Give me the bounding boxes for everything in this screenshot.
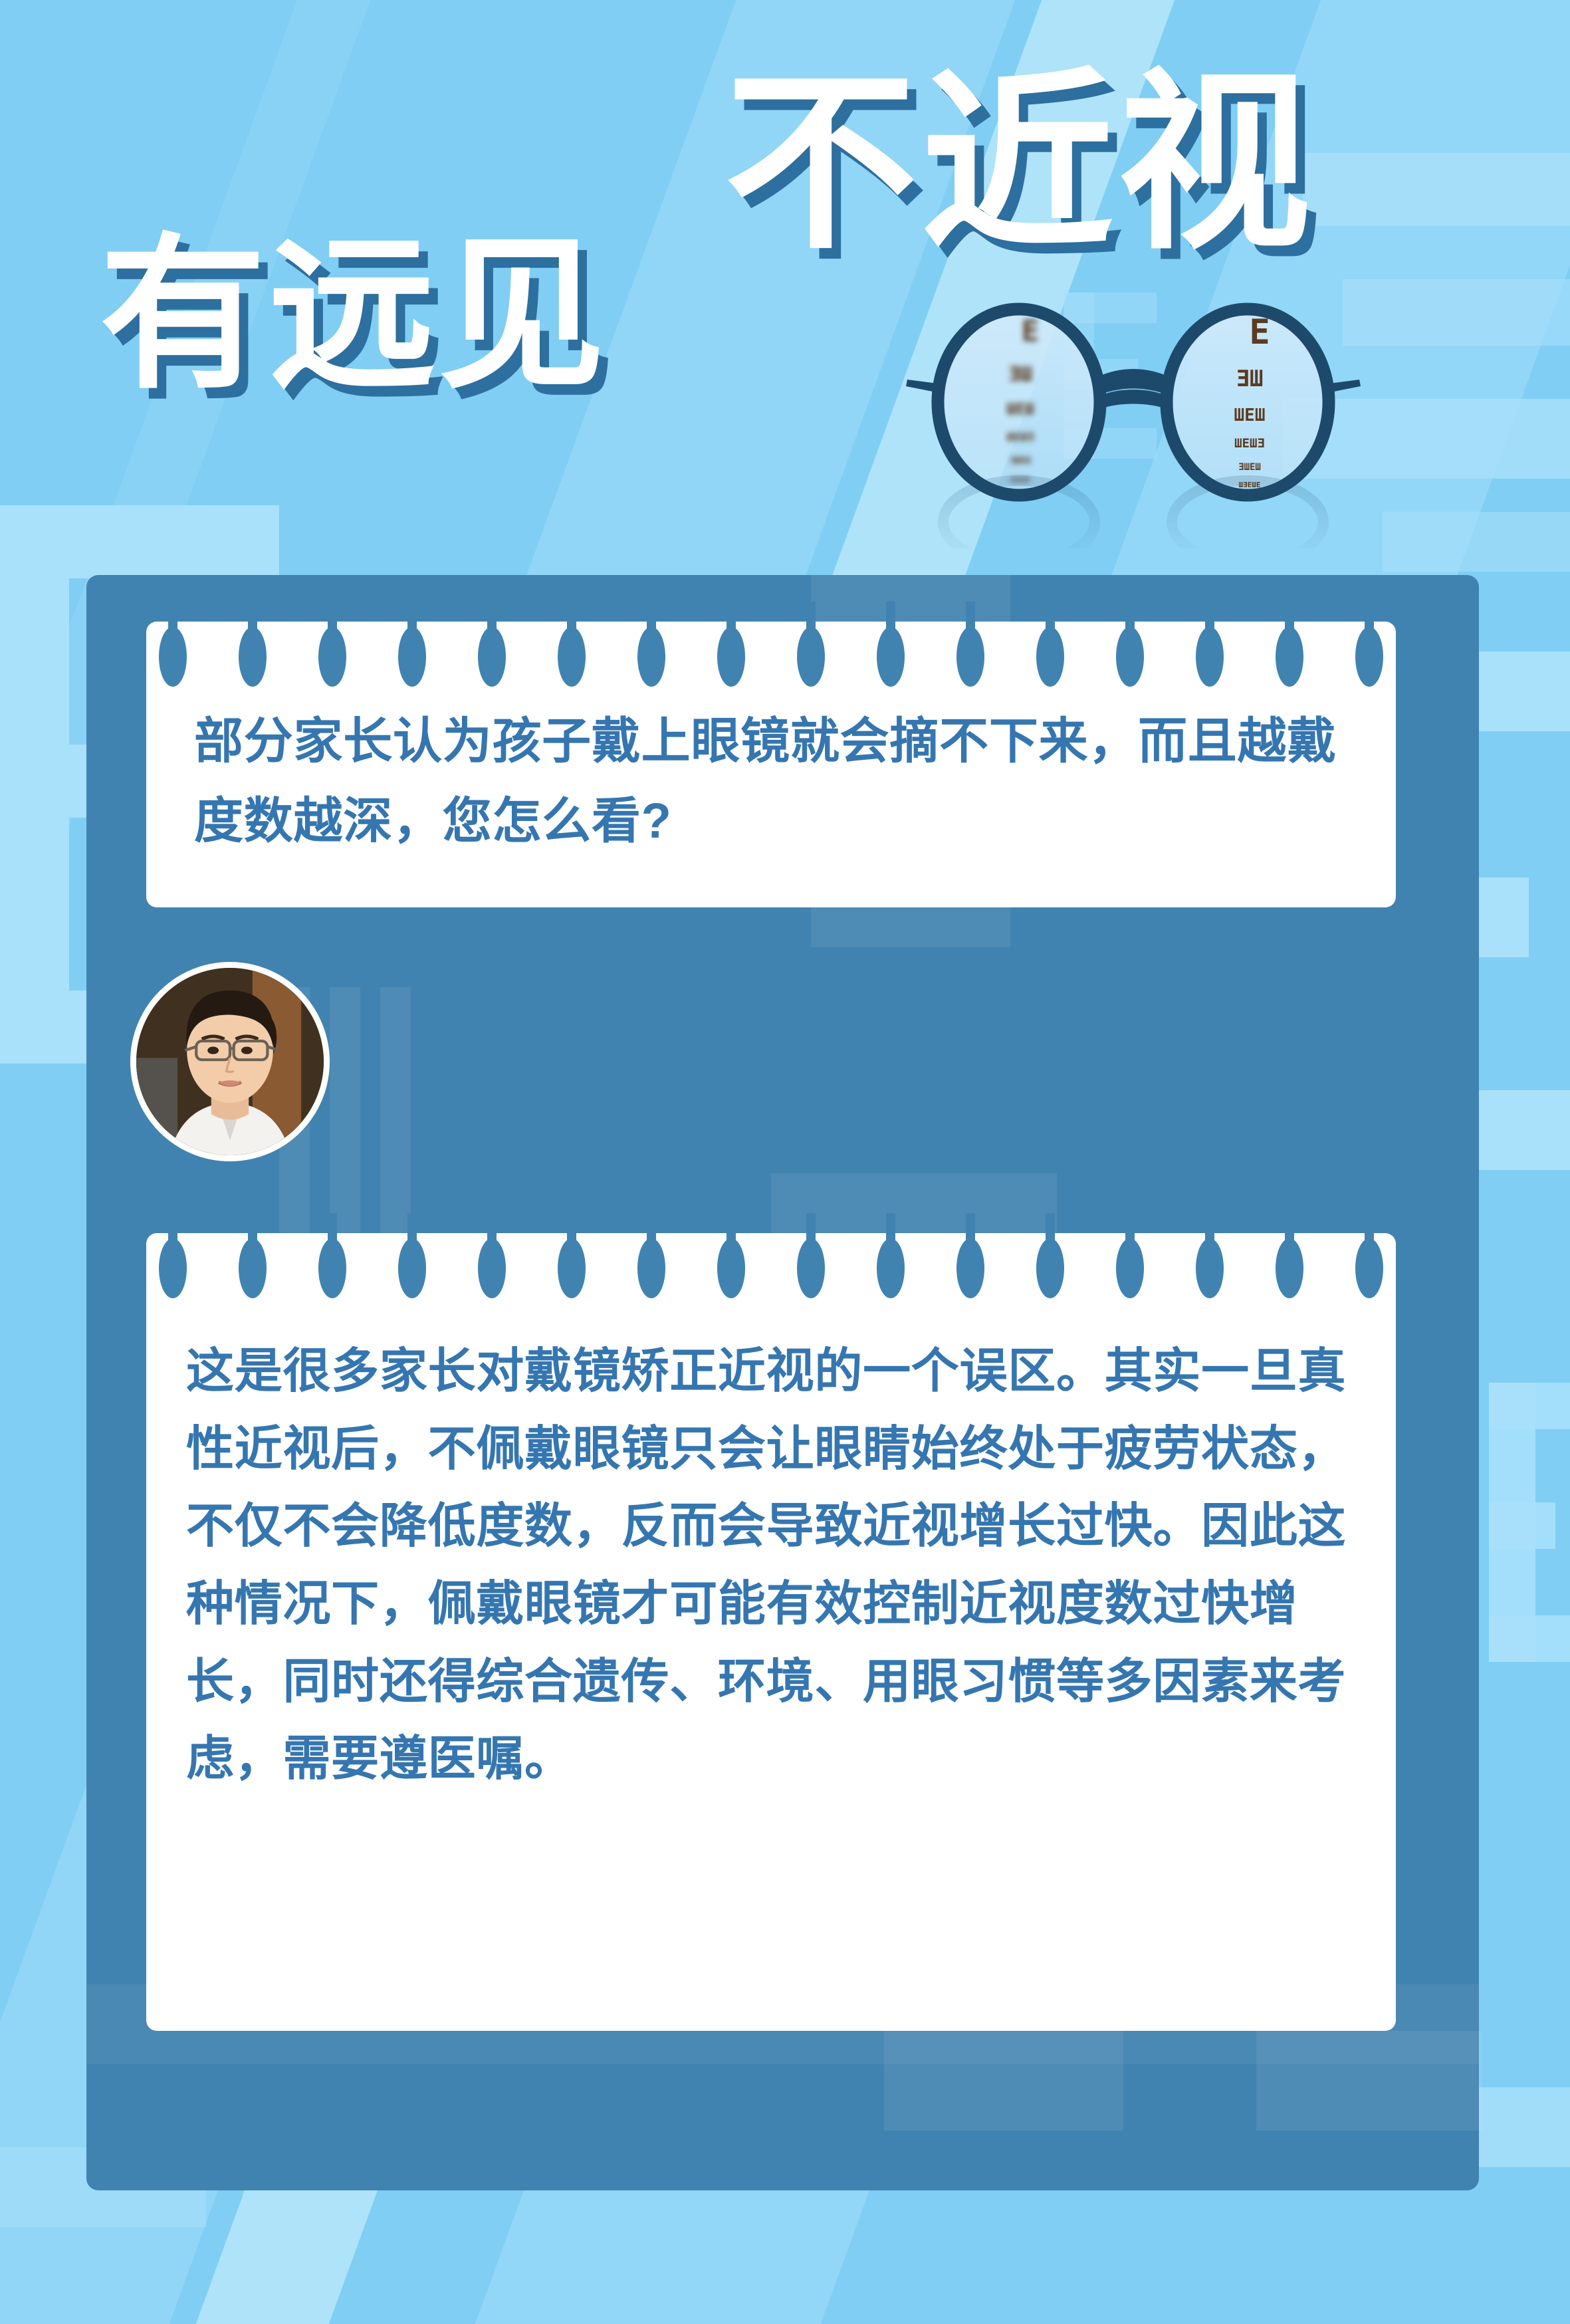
panel-tone-block-3 — [380, 987, 411, 1233]
spiral-pin-bead — [797, 627, 825, 687]
svg-text:ƎШ: ƎШ — [1008, 363, 1032, 386]
svg-text:E: E — [1022, 314, 1040, 348]
spiral-pin-bead — [637, 627, 665, 687]
spiral-pin-bead — [1276, 627, 1303, 687]
spiral-pin-bead — [877, 627, 905, 687]
spiral-pin-bead — [1036, 1238, 1064, 1298]
question-text: 部分家长认为孩子戴上眼镜就会摘不下来，而且越戴度数越深，您怎么看? — [194, 701, 1348, 861]
deco-e-mid-arm-mid — [1489, 1502, 1555, 1549]
spiral-pin-bead — [1276, 1238, 1303, 1298]
svg-text:ШEШƎ: ШEШƎ — [1234, 436, 1265, 451]
spiral-pin-bead — [318, 1238, 346, 1298]
doctor-portrait — [130, 962, 330, 1161]
spiral-pin-bead — [717, 627, 745, 687]
spiral-pin-bead — [159, 627, 187, 687]
spiral-pin-bead — [956, 627, 984, 687]
spiral-pin-bead — [1116, 627, 1144, 687]
spiral-pin-bead — [478, 1238, 506, 1298]
spiral-pin-bead — [398, 627, 426, 687]
svg-text:ƎШEШ: ƎШEШ — [1238, 462, 1261, 473]
svg-text:E: E — [1249, 312, 1270, 352]
answer-note-card: 这是很多家长对戴镜矫正近视的一个误区。其实一旦真性近视后，不佩戴眼镜只会让眼睛始… — [146, 1233, 1396, 2031]
spiral-pin-bead — [1196, 1238, 1224, 1298]
svg-text:ШEШ: ШEШ — [1234, 406, 1266, 425]
spiral-pin-bead — [1355, 627, 1383, 687]
spiral-pin-bead — [159, 1238, 187, 1298]
deco-bar-4 — [1383, 512, 1570, 572]
spiral-pin-bead — [239, 627, 267, 687]
spiral-pin-bead — [956, 1238, 984, 1298]
spiral-pin-bead — [1355, 1238, 1383, 1298]
eyeglasses-illustration: E ƎШ ШEШ ШEШƎ ƎШEШ ШƎEШE ШƎEШEƎШ E ƎШ ШE… — [901, 302, 1366, 548]
spiral-pin-bead — [478, 627, 506, 687]
deco-bar-1 — [1303, 153, 1570, 226]
deco-bar-2 — [1343, 279, 1570, 346]
spiral-pin-bead — [877, 1238, 905, 1298]
spiral-pin-bead — [1196, 627, 1224, 687]
svg-text:ƎШEШ: ƎШEШ — [1010, 456, 1030, 466]
deco-e-left-arm-top — [0, 505, 279, 578]
spiral-pin-bead — [558, 1238, 586, 1298]
spiral-pin-bead — [318, 627, 346, 687]
spiral-pin-bead — [239, 1238, 267, 1298]
question-card-spiral-binding — [146, 622, 1396, 701]
svg-text:ШEШ: ШEШ — [1006, 401, 1034, 418]
spiral-pin-bead — [558, 627, 586, 687]
answer-card-spiral-binding — [146, 1233, 1396, 1313]
spiral-pin-bead — [1116, 1238, 1144, 1298]
spiral-pin-bead — [637, 1238, 665, 1298]
spiral-pin-bead — [398, 1238, 426, 1298]
deco-e-mid-arm-top — [1489, 1383, 1570, 1429]
panel-tone-block-2 — [330, 987, 360, 1233]
spiral-pin-bead — [717, 1238, 745, 1298]
question-note-card: 部分家长认为孩子戴上眼镜就会摘不下来，而且越戴度数越深，您怎么看? — [146, 622, 1396, 907]
spiral-pin-bead — [797, 1238, 825, 1298]
spiral-pin-bead — [1036, 627, 1064, 687]
deco-e-mid-arm-bot — [1489, 1615, 1570, 1662]
svg-text:ƎШ: ƎШ — [1236, 366, 1264, 392]
answer-text: 这是很多家长对戴镜矫正近视的一个误区。其实一旦真性近视后，不佩戴眼镜只会让眼睛始… — [186, 1333, 1356, 1798]
svg-text:ШEШƎ: ШEШƎ — [1007, 431, 1034, 444]
